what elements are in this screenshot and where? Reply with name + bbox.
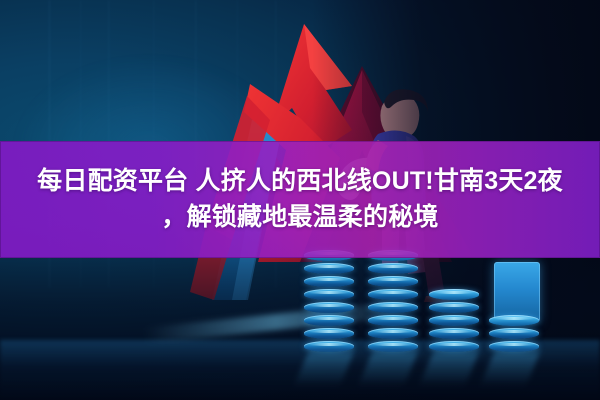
coin-stack-4 bbox=[489, 315, 539, 354]
coin bbox=[304, 276, 354, 287]
caption-line-2: ，解锁藏地最温柔的秘境 bbox=[16, 199, 584, 235]
coin bbox=[429, 315, 479, 326]
coin bbox=[429, 289, 479, 300]
coin bbox=[368, 328, 418, 339]
coin bbox=[304, 263, 354, 274]
coin bbox=[489, 341, 539, 352]
banner-image: 每日配资平台 人挤人的西北线OUT!甘南3天2夜 ，解锁藏地最温柔的秘境 bbox=[0, 0, 600, 400]
coin bbox=[304, 315, 354, 326]
coin-stack-3 bbox=[429, 289, 479, 354]
banknote-card bbox=[494, 262, 540, 322]
coin bbox=[304, 341, 354, 352]
coin bbox=[304, 289, 354, 300]
coin-stack-2 bbox=[368, 250, 418, 354]
coin bbox=[429, 341, 479, 352]
coin bbox=[304, 302, 354, 313]
coin bbox=[368, 276, 418, 287]
coin-stack-1 bbox=[304, 250, 354, 354]
coin bbox=[368, 289, 418, 300]
caption-text: 每日配资平台 人挤人的西北线OUT!甘南3天2夜 ，解锁藏地最温柔的秘境 bbox=[0, 163, 600, 235]
coin bbox=[489, 315, 539, 326]
coin bbox=[489, 328, 539, 339]
coin bbox=[304, 328, 354, 339]
coin bbox=[368, 315, 418, 326]
coin bbox=[429, 328, 479, 339]
coin bbox=[368, 302, 418, 313]
coin bbox=[368, 263, 418, 274]
caption-line-1: 每日配资平台 人挤人的西北线OUT!甘南3天2夜 bbox=[16, 163, 584, 199]
coin bbox=[368, 341, 418, 352]
coin bbox=[429, 302, 479, 313]
